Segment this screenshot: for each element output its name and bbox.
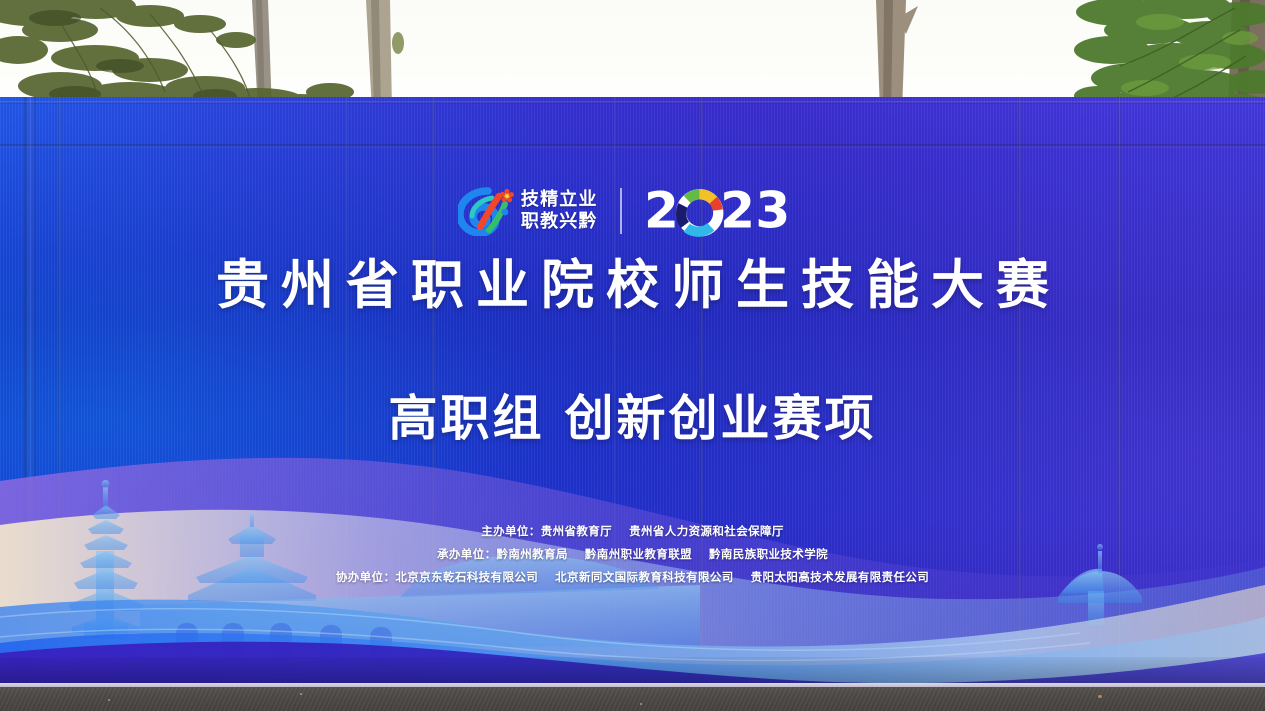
organizer-item: 黔南民族职业技术学院 bbox=[709, 547, 828, 561]
ground-speck bbox=[640, 703, 642, 705]
wave-blue bbox=[0, 617, 1265, 687]
organizer-item: 黔南州教育局 bbox=[496, 547, 567, 561]
organizer-item: 黔南州职业教育联盟 bbox=[585, 547, 692, 561]
sky-background bbox=[0, 0, 1265, 112]
slogan-line-1: 技精立业 bbox=[521, 189, 598, 211]
year-2023: 2 2 3 bbox=[644, 185, 807, 237]
organizer-item: 贵州省人力资源和社会保障厅 bbox=[629, 524, 784, 538]
organizer-item: 北京新同文国际教育科技有限公司 bbox=[555, 570, 734, 584]
tree-trunk-left-b bbox=[366, 0, 404, 112]
ground-speck bbox=[108, 699, 110, 701]
organizer-block: 主办单位：贵州省教育厅贵州省人力资源和社会保障厅 承办单位：黔南州教育局黔南州职… bbox=[0, 520, 1265, 589]
slogan-line-2: 职教兴黔 bbox=[521, 211, 598, 233]
banner-panel-rail bbox=[0, 144, 1265, 148]
svg-text:2: 2 bbox=[720, 185, 754, 237]
wave-cyan-mid bbox=[0, 585, 1265, 687]
logo-divider bbox=[620, 188, 622, 234]
organizer-label: 主办单位： bbox=[481, 524, 541, 538]
page-title: 贵州省职业院校师生技能大赛 bbox=[0, 243, 1265, 319]
organizer-line-coorganizer: 协办单位：北京京东乾石科技有限公司北京新同文国际教育科技有限公司贵阳太阳高技术发… bbox=[0, 566, 1265, 589]
emblem-flower bbox=[500, 189, 514, 202]
organizer-item: 贵阳太阳高技术发展有限责任公司 bbox=[751, 570, 930, 584]
photo-scene: 技精立业 职教兴黔 2 2 3 bbox=[0, 0, 1265, 711]
svg-text:3: 3 bbox=[755, 185, 789, 237]
svg-text:2: 2 bbox=[644, 185, 678, 237]
organizer-item: 北京京东乾石科技有限公司 bbox=[395, 570, 538, 584]
organizer-item: 贵州省教育厅 bbox=[541, 524, 612, 538]
ground-speck bbox=[300, 693, 302, 695]
ring-zero bbox=[681, 194, 718, 231]
guizhou-vocational-swirl-emblem bbox=[458, 186, 516, 236]
organizer-label: 承办单位： bbox=[437, 547, 497, 561]
tree-trunk-center bbox=[876, 0, 918, 112]
bridge-openings bbox=[176, 623, 392, 667]
event-banner: 技精立业 职教兴黔 2 2 3 bbox=[0, 97, 1265, 687]
bridge-arch-pillars bbox=[158, 607, 178, 647]
tree-canopy-group bbox=[0, 0, 1265, 112]
ground-speck bbox=[1098, 695, 1102, 698]
logo-slogan: 技精立业 职教兴黔 bbox=[521, 189, 598, 233]
organizer-label: 协办单位： bbox=[336, 570, 396, 584]
year-2023-graphic: 2 2 3 bbox=[644, 185, 807, 237]
wave-deep bbox=[0, 642, 1265, 687]
organizer-line-undertaker: 承办单位：黔南州教育局黔南州职业教育联盟黔南民族职业技术学院 bbox=[0, 543, 1265, 566]
logo-row: 技精立业 职教兴黔 2 2 3 bbox=[0, 180, 1265, 242]
organizer-line-host: 主办单位：贵州省教育厅贵州省人力资源和社会保障厅 bbox=[0, 520, 1265, 543]
banner-top-rail bbox=[0, 101, 1265, 104]
competition-category: 高职组 创新创业赛项 bbox=[0, 379, 1265, 450]
wave-highlights bbox=[0, 609, 1090, 661]
ground-asphalt bbox=[0, 687, 1265, 711]
